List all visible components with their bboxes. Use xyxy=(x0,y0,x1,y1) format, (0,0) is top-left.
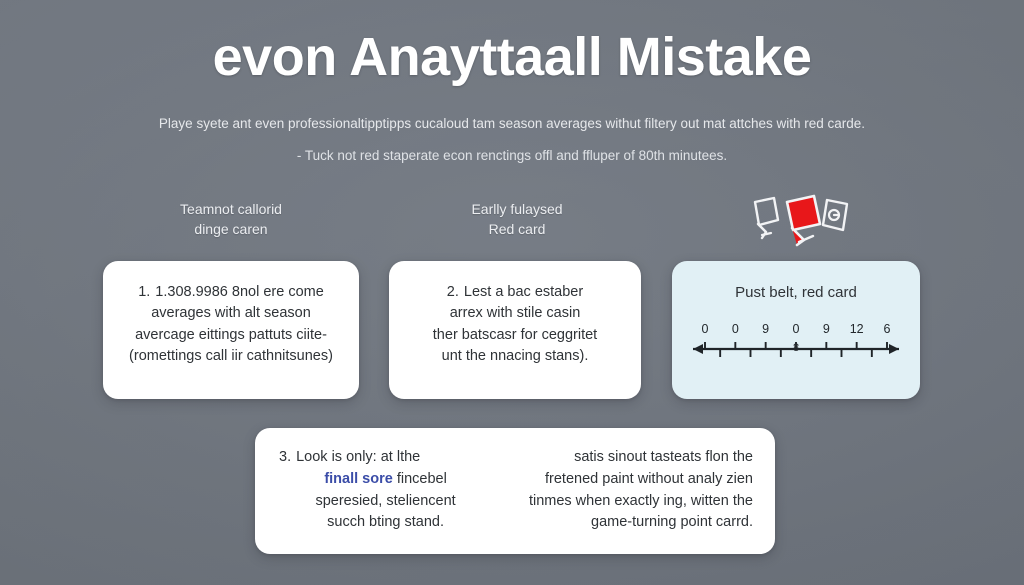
tip-card-2[interactable]: 2.Lest a bac estaber arrex with stile ca… xyxy=(389,261,641,399)
subtitle-line-2: - Tuck not red staperate econ renctings … xyxy=(0,147,1024,166)
tip-card-2-line-1: Lest a bac estaber xyxy=(464,284,583,300)
subtitle-line-1: Playe syete ant even professionaltipptip… xyxy=(0,115,1024,134)
red-card-timing-label: Pust belt, red card xyxy=(672,261,920,303)
number-line-tick-label: 0 xyxy=(732,322,739,336)
number-line-center-label: 8 xyxy=(793,342,799,354)
tip-card-1[interactable]: 1.1.308.9986 8nol ere come averages with… xyxy=(103,261,359,399)
tip-card-1-line-3: avercage eittings pattuts ciite- xyxy=(135,327,327,343)
slide-root: evon Anayttaall Mistake Playe syete ant … xyxy=(0,0,1024,585)
tip-card-1-line-4: (romettings call iir cathnitsunes) xyxy=(129,348,333,364)
tip-card-3-left-line-4: succh bting stand. xyxy=(277,512,494,534)
red-card-icon xyxy=(787,196,820,245)
tip-card-3-left-column: 3.Look is only: at lthe finall sore finc… xyxy=(277,447,494,534)
column-heading-2-line2: Red card xyxy=(389,219,645,239)
playing-cards-icon xyxy=(744,192,854,248)
white-card-icon xyxy=(755,198,778,238)
tip-card-3-right-line-4: game-turning point carrd. xyxy=(508,512,753,534)
tip-card-3-left-line-1: 3.Look is only: at lthe xyxy=(277,447,494,469)
tip-card-3-left-line-3: speresied, steliencent xyxy=(277,491,494,513)
page-title: evon Anayttaall Mistake xyxy=(0,28,1024,87)
number-line-tick-label: 9 xyxy=(762,322,769,336)
red-card-timing-card[interactable]: Pust belt, red card 00909126 8 xyxy=(672,261,920,399)
tip-card-3-highlight: finall sore xyxy=(324,471,393,487)
tip-card-2-line-2: arrex with stile casin xyxy=(450,305,581,321)
tip-card-2-body: 2.Lest a bac estaber arrex with stile ca… xyxy=(389,261,641,381)
column-heading-1: Teamnot callorid dinge caren xyxy=(103,199,359,240)
tip-card-2-number: 2. xyxy=(447,284,459,300)
tip-card-3-right-line-2: fretened paint without analy zien xyxy=(508,469,753,491)
tip-card-3[interactable]: 3.Look is only: at lthe finall sore finc… xyxy=(255,428,775,554)
column-heading-2: Earlly fulaysed Red card xyxy=(389,199,645,240)
number-line-tick-label: 0 xyxy=(793,322,800,336)
tip-card-3-number: 3. xyxy=(279,449,291,465)
tip-card-3-body: 3.Look is only: at lthe finall sore finc… xyxy=(255,428,775,548)
tip-card-3-left-line-1-text: Look is only: at lthe xyxy=(296,449,420,465)
number-line-tick-label: 6 xyxy=(884,322,891,336)
number-line-tick-label: 0 xyxy=(702,322,709,336)
white-card-icon xyxy=(823,200,847,230)
tip-card-1-number: 1. xyxy=(138,284,150,300)
tip-card-1-body: 1.1.308.9986 8nol ere come averages with… xyxy=(103,261,359,381)
number-line-chart: 00909126 8 xyxy=(683,322,909,368)
tip-card-2-line-4: unt the nnacing stans). xyxy=(442,348,589,364)
column-heading-2-line1: Earlly fulaysed xyxy=(389,199,645,219)
tip-card-3-right-column: satis sinout tasteats flon the fretened … xyxy=(508,447,753,534)
tip-card-3-right-line-1: satis sinout tasteats flon the xyxy=(508,447,753,469)
number-line-tick-label: 12 xyxy=(850,322,864,336)
column-heading-1-line2: dinge caren xyxy=(103,219,359,239)
column-heading-1-line1: Teamnot callorid xyxy=(103,199,359,219)
tip-card-3-right-line-3: tinmes when exactly ing, witten the xyxy=(508,491,753,513)
tip-card-3-highlight-suffix: fincebel xyxy=(393,471,447,487)
tip-card-2-line-3: ther batscasr for ceggritet xyxy=(433,327,597,343)
number-line-tick-label: 9 xyxy=(823,322,830,336)
tip-card-1-line-2: averages with alt season xyxy=(151,305,311,321)
tip-card-1-line-1: 1.308.9986 8nol ere come xyxy=(155,284,324,300)
tip-card-3-left-line-2: finall sore fincebel xyxy=(277,469,494,491)
number-line-tick-labels: 00909126 xyxy=(683,322,909,339)
